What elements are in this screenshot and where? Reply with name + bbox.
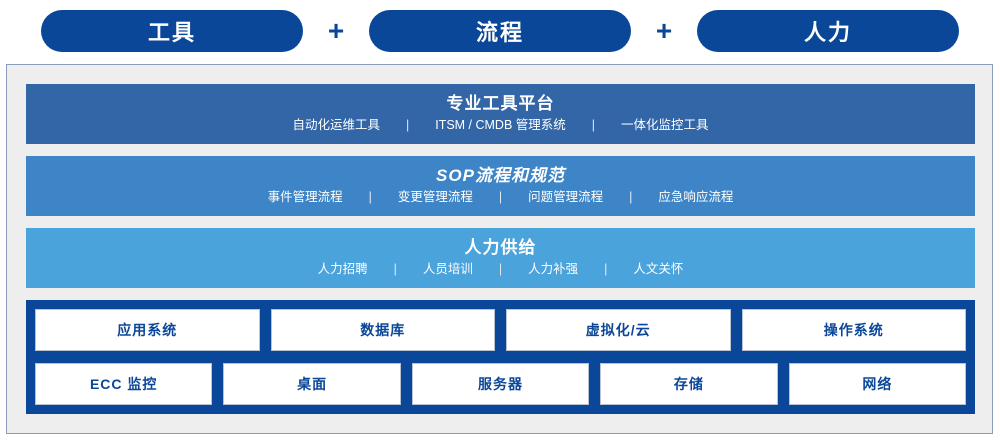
layer-manpower-title: 人力供给 (465, 239, 537, 258)
layer-tools-item-1[interactable]: ITSM / CMDB 管理系统 (421, 119, 580, 133)
layer-manpower-item-0[interactable]: 人力招聘 (304, 263, 382, 277)
formula-row: 工具 + 流程 + 人力 (0, 0, 1000, 62)
capability-stack-container: 专业工具平台 自动化运维工具 | ITSM / CMDB 管理系统 | 一体化监… (6, 64, 993, 434)
plus-separator-1: + (303, 17, 369, 45)
layer-process-title: SOP流程和规范 (436, 167, 565, 186)
divider-icon: | (394, 119, 421, 133)
layer-manpower-item-3[interactable]: 人文关怀 (619, 263, 697, 277)
layer-manpower-item-1[interactable]: 人员培训 (409, 263, 487, 277)
layer-manpower-items: 人力招聘 | 人员培训 | 人力补强 | 人文关怀 (304, 263, 698, 277)
layer-tools: 专业工具平台 自动化运维工具 | ITSM / CMDB 管理系统 | 一体化监… (26, 84, 975, 144)
layer-process-item-0[interactable]: 事件管理流程 (254, 191, 357, 205)
object-card-ecc-monitoring[interactable]: ECC 监控 (35, 363, 212, 405)
divider-icon: | (487, 191, 514, 205)
layer-manpower-item-2[interactable]: 人力补强 (514, 263, 592, 277)
object-card-application[interactable]: 应用系统 (35, 309, 260, 351)
object-card-virtualization-cloud[interactable]: 虚拟化/云 (506, 309, 731, 351)
divider-icon: | (580, 119, 607, 133)
layer-tools-items: 自动化运维工具 | ITSM / CMDB 管理系统 | 一体化监控工具 (278, 119, 722, 133)
plus-separator-2: + (631, 17, 697, 45)
pill-manpower[interactable]: 人力 (697, 10, 959, 52)
divider-icon: | (592, 263, 619, 277)
pill-process[interactable]: 流程 (369, 10, 631, 52)
managed-objects-row-2: ECC 监控 桌面 服务器 存储 网络 (35, 363, 966, 405)
divider-icon: | (487, 263, 514, 277)
object-card-database[interactable]: 数据库 (271, 309, 496, 351)
layer-tools-item-0[interactable]: 自动化运维工具 (278, 119, 394, 133)
layer-process-item-3[interactable]: 应急响应流程 (644, 191, 747, 205)
divider-icon: | (617, 191, 644, 205)
managed-objects-row-1: 应用系统 数据库 虚拟化/云 操作系统 (35, 309, 966, 351)
managed-objects-box: 应用系统 数据库 虚拟化/云 操作系统 ECC 监控 桌面 服务器 存储 网络 (26, 300, 975, 414)
layer-process-item-2[interactable]: 问题管理流程 (514, 191, 617, 205)
object-card-network[interactable]: 网络 (789, 363, 966, 405)
divider-icon: | (382, 263, 409, 277)
object-card-server[interactable]: 服务器 (412, 363, 589, 405)
pill-tools[interactable]: 工具 (41, 10, 303, 52)
divider-icon: | (357, 191, 384, 205)
layer-tools-title: 专业工具平台 (447, 95, 555, 114)
object-card-storage[interactable]: 存储 (600, 363, 777, 405)
layer-process: SOP流程和规范 事件管理流程 | 变更管理流程 | 问题管理流程 | 应急响应… (26, 156, 975, 216)
layer-process-items: 事件管理流程 | 变更管理流程 | 问题管理流程 | 应急响应流程 (254, 191, 748, 205)
pill-process-label: 流程 (476, 15, 524, 47)
pill-tools-label: 工具 (148, 15, 196, 47)
layer-manpower: 人力供给 人力招聘 | 人员培训 | 人力补强 | 人文关怀 (26, 228, 975, 288)
pill-manpower-label: 人力 (804, 15, 852, 47)
object-card-desktop[interactable]: 桌面 (223, 363, 400, 405)
layer-tools-item-2[interactable]: 一体化监控工具 (607, 119, 723, 133)
layer-process-item-1[interactable]: 变更管理流程 (384, 191, 487, 205)
object-card-operating-system[interactable]: 操作系统 (742, 309, 967, 351)
